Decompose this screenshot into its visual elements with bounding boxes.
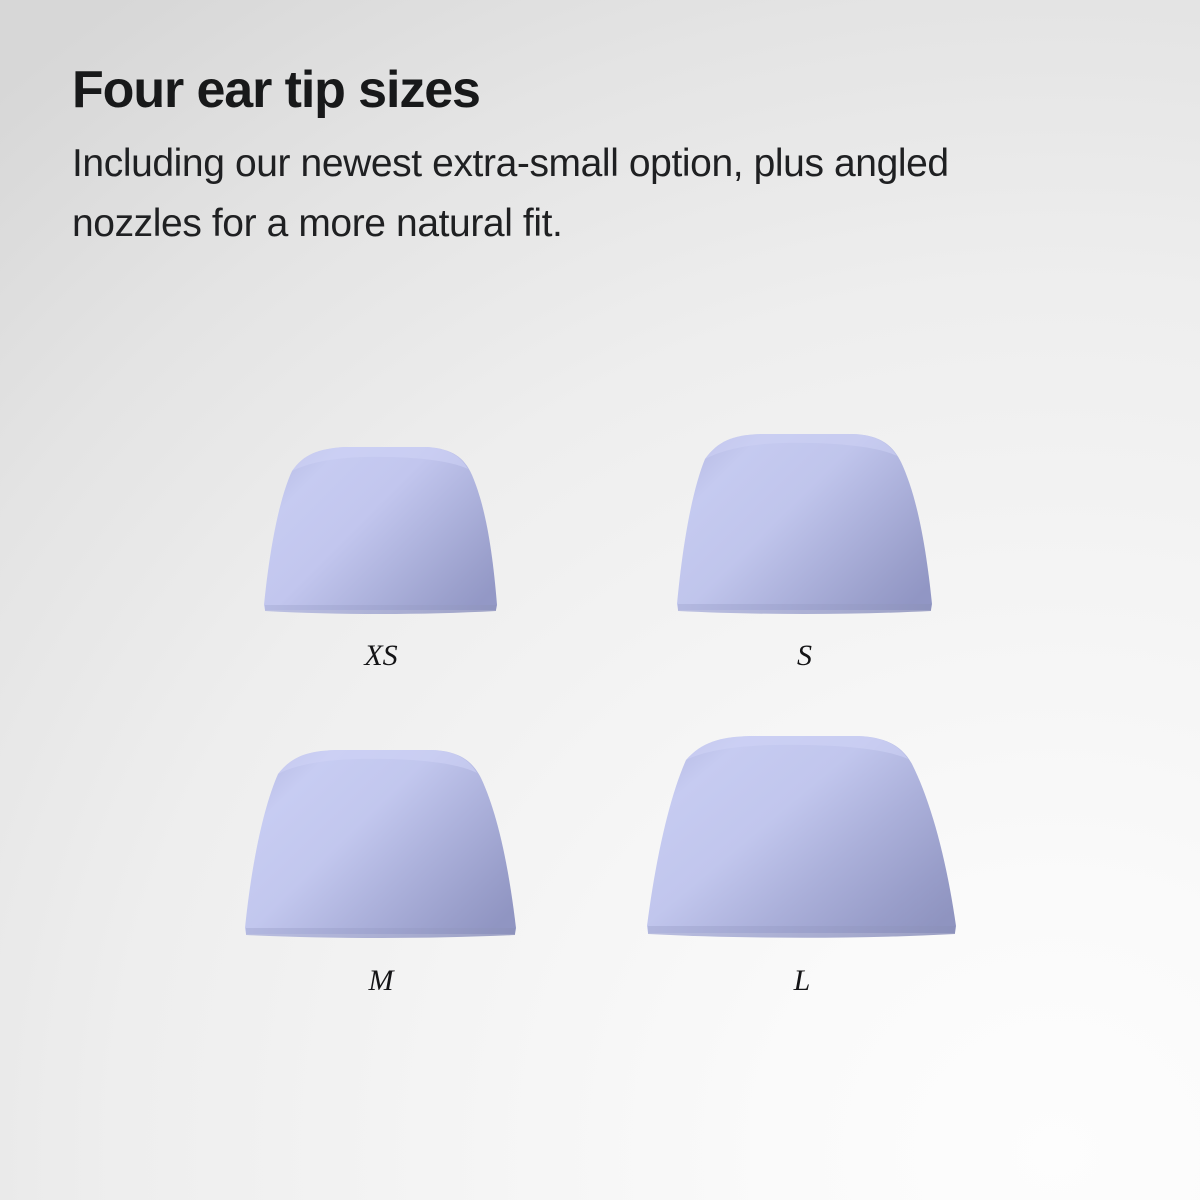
eartip-dome-icon-xs (252, 445, 510, 620)
eartip-label-s: S (797, 641, 812, 671)
product-feature-card: Four ear tip sizes Including our newest … (0, 0, 1200, 1200)
eartip-dome-icon-s (663, 432, 946, 620)
eartip-label-xs: XS (364, 641, 397, 671)
eartip-label-m: M (369, 966, 394, 996)
eartip-label-l: L (794, 966, 811, 996)
eartip-item-l: L (632, 734, 972, 944)
eartip-item-s: S (663, 432, 946, 620)
eartip-dome-icon-m (232, 748, 530, 944)
eartip-grid: XS (0, 400, 1200, 1040)
eartip-figure-l (632, 734, 972, 944)
eartip-item-xs: XS (252, 445, 510, 620)
header-block: Four ear tip sizes Including our newest … (72, 58, 1082, 254)
eartip-figure-s (663, 432, 946, 620)
page-subtitle: Including our newest extra-small option,… (72, 134, 1047, 254)
eartip-figure-m (232, 748, 530, 944)
eartip-item-m: M (232, 748, 530, 944)
eartip-figure-xs (252, 445, 510, 620)
page-title: Four ear tip sizes (72, 58, 1082, 122)
eartip-dome-icon-l (632, 734, 972, 944)
